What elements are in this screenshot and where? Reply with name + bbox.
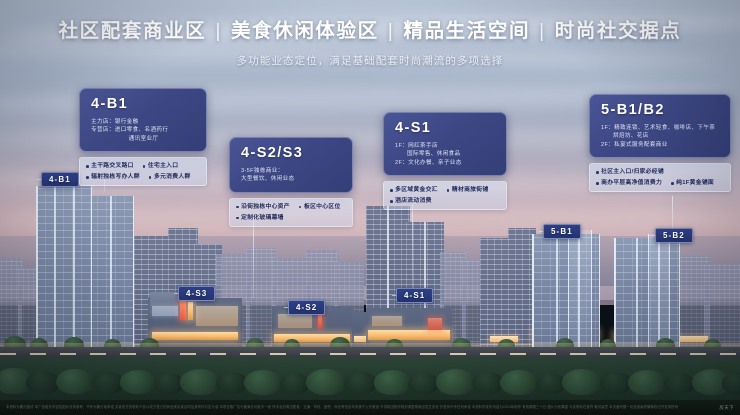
bullet-dot	[86, 176, 89, 179]
bullet-dot	[236, 206, 239, 209]
footer-bar: 本资料为要约邀请 本广告相关内容及图片仅供参考，不作为要约或承诺 买卖双方的权利…	[0, 400, 740, 415]
callout-4s1[interactable]: 4-S1 1F：网红茶手店 国际零售、休闲食品 2F：文化办餐、亲子业态 多区域…	[383, 112, 507, 210]
callout-line: 2F：私宴式服务配套商业	[601, 141, 720, 149]
callout-5b1b2-lines: 1F：精致连锁、艺术轻食、咖啡店、下午茶 烘焙坊、花店 2F：私宴式服务配套商业	[601, 124, 720, 149]
chip-row: 定制化玻璃幕墙	[236, 214, 346, 222]
scene-root: 社区配套商业区 | 美食休闲体验区 | 精品生活空间 | 时尚社交据点 多功能业…	[0, 0, 740, 415]
callout-4b1-lines: 主力店：银行金融 专营店：进口零食、名酒药行 通讯室业厅	[91, 118, 196, 143]
title-separator: |	[386, 20, 397, 42]
callout-line: 2F：文化办餐、亲子业态	[395, 159, 496, 167]
chip-label: 主干路交叉路口	[91, 162, 134, 170]
feature-chip: 住宅主入口	[143, 162, 179, 170]
callout-line: 主力店：银行金融	[91, 118, 196, 126]
facade-accent-light	[180, 300, 186, 320]
retail-window-light	[152, 306, 178, 316]
callout-line: 专营店：进口零食、名酒药行	[91, 126, 196, 134]
tower-5b2-glass-bay	[648, 234, 670, 350]
building-tag-4s2[interactable]: 4-S2	[288, 300, 325, 315]
leader-line-4s3	[253, 218, 254, 298]
chip-row: 多区域黄金交汇 精材商旅街铺	[390, 186, 500, 194]
feature-chip: 社区主入口/归家必经铺	[596, 168, 664, 176]
callout-5b1b2-head: 5-B1/B2 1F：精致连锁、艺术轻食、咖啡店、下午茶 烘焙坊、花店 2F：私…	[589, 94, 731, 158]
page-subtitle: 多功能业态定位，满足基础配套时尚潮流的多项选择	[0, 53, 740, 68]
callout-4s2s3-chips: 沿街独栋中心资产 板区中心区位 定制化玻璃幕墙	[229, 198, 353, 227]
chip-row: 主干路交叉路口 住宅主入口	[86, 162, 200, 170]
callout-line: 1F：网红茶手店	[395, 142, 496, 150]
bullet-dot	[236, 217, 239, 220]
feature-chip: 定制化玻璃幕墙	[236, 214, 284, 222]
building-tag-4b1[interactable]: 4-B1	[41, 172, 79, 187]
chip-row: 酒店流动消费	[390, 197, 500, 205]
callout-line: 烘焙坊、花店	[601, 132, 720, 140]
chip-label: 社区主入口/归家必经铺	[601, 168, 664, 176]
callout-4s2s3-code: 4-S2/S3	[241, 145, 342, 162]
feature-chip: 精材商旅街铺	[447, 186, 489, 194]
feature-chip: 酒店流动消费	[390, 197, 432, 205]
retail-window-light	[278, 314, 312, 328]
retail-window-light	[196, 306, 238, 326]
bullet-dot	[596, 171, 599, 174]
feature-chip: 多元消费人群	[149, 173, 191, 181]
bullet-dot	[447, 189, 450, 192]
tower-4b1-right	[88, 196, 134, 350]
title-separator: |	[213, 20, 224, 42]
chip-label: 板区中心区位	[304, 203, 341, 211]
callout-4s1-code: 4-S1	[395, 120, 496, 137]
chip-label: 商办平层高净值消费力	[601, 179, 662, 187]
chip-label: 纯1F黄金铺面	[676, 179, 714, 187]
bullet-dot	[149, 176, 152, 179]
callout-4s1-chips: 多区域黄金交汇 精材商旅街铺 酒店流动消费	[383, 181, 507, 210]
feature-chip: 纯1F黄金铺面	[671, 179, 714, 187]
chip-label: 沿街独栋中心资产	[241, 203, 290, 211]
chip-label: 多元消费人群	[154, 173, 191, 181]
chip-label: 定制化玻璃幕墙	[241, 214, 284, 222]
building-tag-5b2[interactable]: 5-B2	[655, 228, 693, 243]
bullet-dot	[596, 182, 599, 185]
facade-accent-light	[428, 318, 442, 330]
feature-chip: 沿街独栋中心资产	[236, 203, 290, 211]
building-tag-4s1[interactable]: 4-S1	[396, 288, 433, 303]
header-block: 社区配套商业区 | 美食休闲体验区 | 精品生活空间 | 时尚社交据点 多功能业…	[0, 18, 740, 68]
page-title: 社区配套商业区 | 美食休闲体验区 | 精品生活空间 | 时尚社交据点	[0, 18, 740, 44]
title-part-3: 精品生活空间	[403, 20, 530, 42]
feature-chip: 辐射独栋写办人群	[86, 173, 140, 181]
bullet-dot	[390, 189, 393, 192]
chip-label: 辐射独栋写办人群	[91, 173, 140, 181]
building-tag-5b1[interactable]: 5-B1	[543, 224, 581, 239]
legal-disclaimer: 本资料为要约邀请 本广告相关内容及图片仅供参考，不作为要约或承诺 买卖双方的权利…	[6, 405, 713, 410]
title-part-4: 时尚社交据点	[555, 20, 682, 42]
road-center-line	[0, 353, 740, 355]
chip-label: 住宅主入口	[148, 162, 179, 170]
callout-line: 通讯室业厅	[91, 135, 196, 143]
bullet-dot	[143, 165, 146, 168]
callout-5b1b2[interactable]: 5-B1/B2 1F：精致连锁、艺术轻食、咖啡店、下午茶 烘焙坊、花店 2F：私…	[589, 94, 731, 192]
feature-chip: 主干路交叉路口	[86, 162, 134, 170]
callout-4b1[interactable]: 4-B1 主力店：银行金融 专营店：进口零食、名酒药行 通讯室业厅 主干路交叉路…	[79, 88, 207, 186]
chip-label: 精材商旅街铺	[452, 186, 489, 194]
callout-4b1-head: 4-B1 主力店：银行金融 专营店：进口零食、名酒药行 通讯室业厅	[79, 88, 207, 152]
feature-chip: 板区中心区位	[299, 203, 341, 211]
bullet-dot	[299, 206, 302, 209]
callout-4b1-chips: 主干路交叉路口 住宅主入口 辐射独栋写办人群 多元消费人群	[79, 157, 207, 186]
callout-5b1b2-code: 5-B1/B2	[601, 102, 720, 119]
bullet-dot	[86, 165, 89, 168]
callout-4s2s3-lines: 3-5F独栋商业： 大型餐饮、休闲业态	[241, 167, 342, 184]
bullet-dot	[671, 182, 674, 185]
watermark: 房天下	[713, 405, 734, 411]
bullet-dot	[390, 200, 393, 203]
tower-5b1-glass-bay	[568, 230, 592, 350]
callout-4s2s3-head: 4-S2/S3 3-5F独栋商业： 大型餐饮、休闲业态	[229, 137, 353, 193]
callout-4s1-lines: 1F：网红茶手店 国际零售、休闲食品 2F：文化办餐、亲子业态	[395, 142, 496, 167]
callout-line: 3-5F独栋商业：	[241, 167, 342, 175]
feature-chip: 多区域黄金交汇	[390, 186, 438, 194]
callout-4s2s3[interactable]: 4-S2/S3 3-5F独栋商业： 大型餐饮、休闲业态 沿街独栋中心资产 板区中…	[229, 137, 353, 227]
retail-window-light	[372, 316, 402, 326]
chip-row: 沿街独栋中心资产 板区中心区位	[236, 203, 346, 211]
title-separator: |	[537, 20, 548, 42]
chip-row: 辐射独栋写办人群 多元消费人群	[86, 173, 200, 181]
title-part-1: 社区配套商业区	[59, 20, 207, 42]
tower-5b2	[614, 238, 680, 350]
facade-accent-light	[188, 302, 193, 320]
chip-label: 多区域黄金交汇	[395, 186, 438, 194]
tower-4b1-left	[36, 186, 92, 350]
callout-5b1b2-chips: 社区主入口/归家必经铺 商办平层高净值消费力 纯1F黄金铺面	[589, 163, 731, 192]
callout-4s1-head: 4-S1 1F：网红茶手店 国际零售、休闲食品 2F：文化办餐、亲子业态	[383, 112, 507, 176]
callout-line: 1F：精致连锁、艺术轻食、咖啡店、下午茶	[601, 124, 720, 132]
feature-chip: 商办平层高净值消费力	[596, 179, 662, 187]
chip-row: 商办平层高净值消费力 纯1F黄金铺面	[596, 179, 724, 187]
callout-line: 大型餐饮、休闲业态	[241, 175, 342, 183]
building-tag-4s3[interactable]: 4-S3	[178, 286, 215, 301]
chip-label: 酒店流动消费	[395, 197, 432, 205]
title-part-2: 美食休闲体验区	[231, 20, 379, 42]
chip-row: 社区主入口/归家必经铺	[596, 168, 724, 176]
callout-line: 国际零售、休闲食品	[395, 150, 496, 158]
callout-4b1-code: 4-B1	[91, 96, 196, 113]
